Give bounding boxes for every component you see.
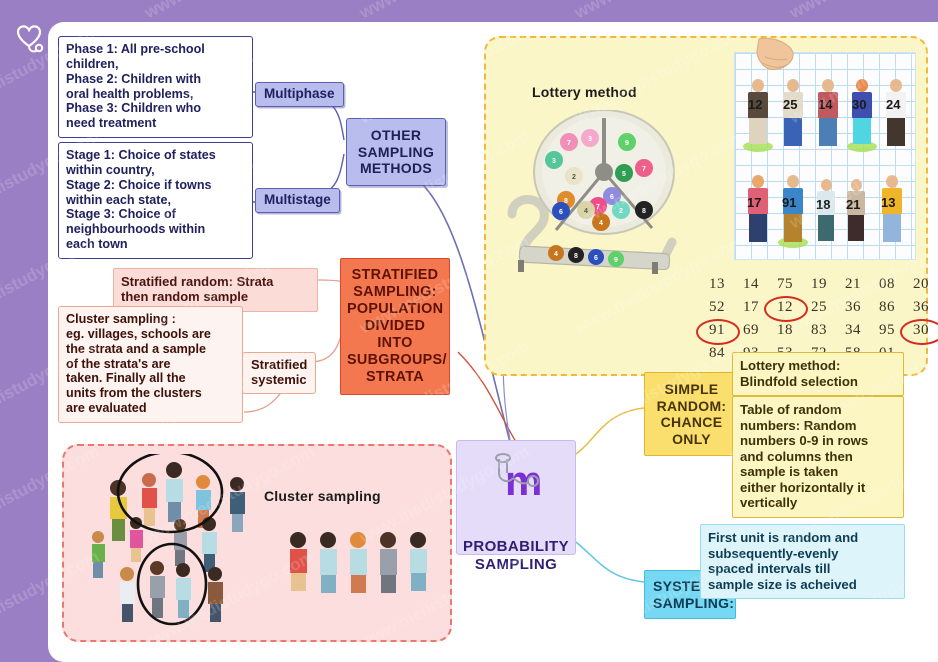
cluster-people-illustration [72,454,452,638]
table-cell: 21 [836,276,870,293]
center-node-label: PROBABILITY SAMPLING [457,538,575,573]
cluster-illustration-panel: Cluster sampling [62,444,452,642]
person-head [890,79,902,92]
svg-text:3: 3 [552,158,556,165]
watermark-text: www.medistudygo.com [356,0,532,23]
person-figure: 24 [881,79,911,153]
pointing-hand-icon [753,37,799,79]
table-cell: 25 [802,299,836,316]
svg-text:2: 2 [619,208,623,215]
table-cell: 13 [700,276,734,293]
person-legs [749,118,767,144]
person-number: 13 [881,195,895,210]
multiphase-detail-box: Phase 1: All pre-school children, Phase … [58,36,253,138]
person-head [787,79,799,92]
copyright-sidebar: © 2025 by Teachspoon EdTech Private Limi… [0,0,48,662]
heart-stethoscope-logo [10,18,52,60]
lottery-panel-title: Lottery method [532,84,637,100]
multistage-chip[interactable]: Multistage [255,188,340,213]
svg-text:7: 7 [642,166,646,173]
svg-text:3: 3 [588,136,592,143]
svg-text:9: 9 [625,140,629,147]
other-sampling-methods-node[interactable]: OTHER SAMPLING METHODS [346,118,446,186]
person-head [752,175,764,188]
table-cell-circled: 91 [700,322,734,339]
person-legs [819,118,837,146]
table-cell: 34 [836,322,870,339]
watermark-text: www.medistudygo.com [786,0,938,23]
stratified-systemic-chip[interactable]: Stratified systemic [242,352,316,394]
person-figure: 14 [813,79,843,153]
stratified-sampling-node[interactable]: STRATIFIED SAMPLING: POPULATION DIVIDED … [340,258,450,395]
table-cell: 08 [870,276,904,293]
person-figure: 25 [778,79,808,153]
person-figure: 21 [843,179,869,249]
page-canvas: Phase 1: All pre-school children, Phase … [48,22,938,662]
person-head [752,79,764,92]
svg-text:6: 6 [594,255,598,262]
table-cell: 17 [734,299,768,316]
table-cell: 19 [802,276,836,293]
lottery-ball-machine: 7 3 3 9 5 7 2 8 6 2 7 4 6 4 8 4 8 6 [504,110,704,278]
person-figure: 12 [743,79,773,153]
copyright-text: © 2025 by Teachspoon EdTech Private Limi… [188,644,200,662]
person-figure: 17 [743,175,773,249]
random-number-table-detail-box: Table of random numbers: Random numbers … [732,396,904,518]
person-number: 21 [846,197,860,212]
svg-text:2: 2 [572,174,576,181]
person-legs [887,118,905,146]
table-cell: 86 [870,299,904,316]
multiphase-chip[interactable]: Multiphase [255,82,344,107]
person-number: 14 [818,97,832,112]
table-cell-circled: 12 [768,299,802,316]
person-head [851,179,862,191]
people-grid-paper: 12 25 14 30 [734,52,916,260]
svg-text:5: 5 [622,171,626,178]
person-head [821,179,832,191]
svg-text:6: 6 [559,209,563,216]
person-legs [749,214,767,242]
table-cell: 36 [836,299,870,316]
person-number: 91 [782,195,796,210]
person-legs [848,215,864,241]
svg-text:7: 7 [567,140,571,147]
table-cell: 18 [768,322,802,339]
person-number: 17 [747,195,761,210]
table-cell-circled: 30 [904,322,938,339]
person-figure: 30 [847,79,877,153]
person-figure: 13 [877,175,907,249]
person-head [886,175,898,188]
table-cell: 20 [904,276,938,293]
table-cell: 95 [870,322,904,339]
simple-random-node[interactable]: SIMPLE RANDOM: CHANCE ONLY [644,372,739,456]
table-row: 91 69 18 83 34 95 30 87 [700,322,938,339]
person-legs [818,215,834,241]
person-number: 18 [816,197,830,212]
lottery-illustration-panel: Lottery method 7 3 3 9 5 7 2 8 6 2 7 4 [484,36,928,376]
person-head [856,79,868,92]
table-cell: 69 [734,322,768,339]
svg-text:6: 6 [610,194,614,201]
watermark-text: www.medistudygo.com [571,0,747,23]
person-legs [853,118,871,144]
svg-text:8: 8 [642,208,646,215]
person-figure: 18 [813,179,839,249]
m-stethoscope-logo: m [485,451,549,503]
svg-text:4: 4 [554,251,558,258]
person-number: 30 [852,97,866,112]
table-cell: 84 [700,345,734,362]
table-cell: 36 [904,299,938,316]
table-row: 13 14 75 19 21 08 20 24 [700,276,938,293]
person-head [822,79,834,92]
person-legs [784,214,802,242]
svg-text:7: 7 [596,204,600,211]
person-head [787,175,799,188]
watermark-text: www.medistudygo.com [141,0,317,23]
table-row: 52 17 12 25 36 86 36 99 [700,299,938,316]
person-number: 25 [783,97,797,112]
multistage-detail-box: Stage 1: Choice of states within country… [58,142,253,259]
svg-text:4: 4 [584,208,588,215]
person-number: 24 [886,97,900,112]
svg-text:9: 9 [614,257,618,264]
svg-text:8: 8 [574,253,578,260]
probability-sampling-center-node[interactable]: m PROBABILITY SAMPLING [456,440,576,555]
person-legs [883,214,901,242]
svg-text:4: 4 [599,220,603,227]
person-number: 12 [748,97,762,112]
table-cell: 52 [700,299,734,316]
person-figure: 91 [778,175,808,249]
cluster-sampling-detail-box: Cluster sampling : eg. villages, schools… [58,306,243,423]
lottery-method-detail-box: Lottery method: Blindfold selection [732,352,904,396]
table-cell: 75 [768,276,802,293]
person-legs [784,118,802,146]
table-cell: 83 [802,322,836,339]
table-cell: 14 [734,276,768,293]
systemic-detail-box: First unit is random and subsequently-ev… [700,524,905,599]
